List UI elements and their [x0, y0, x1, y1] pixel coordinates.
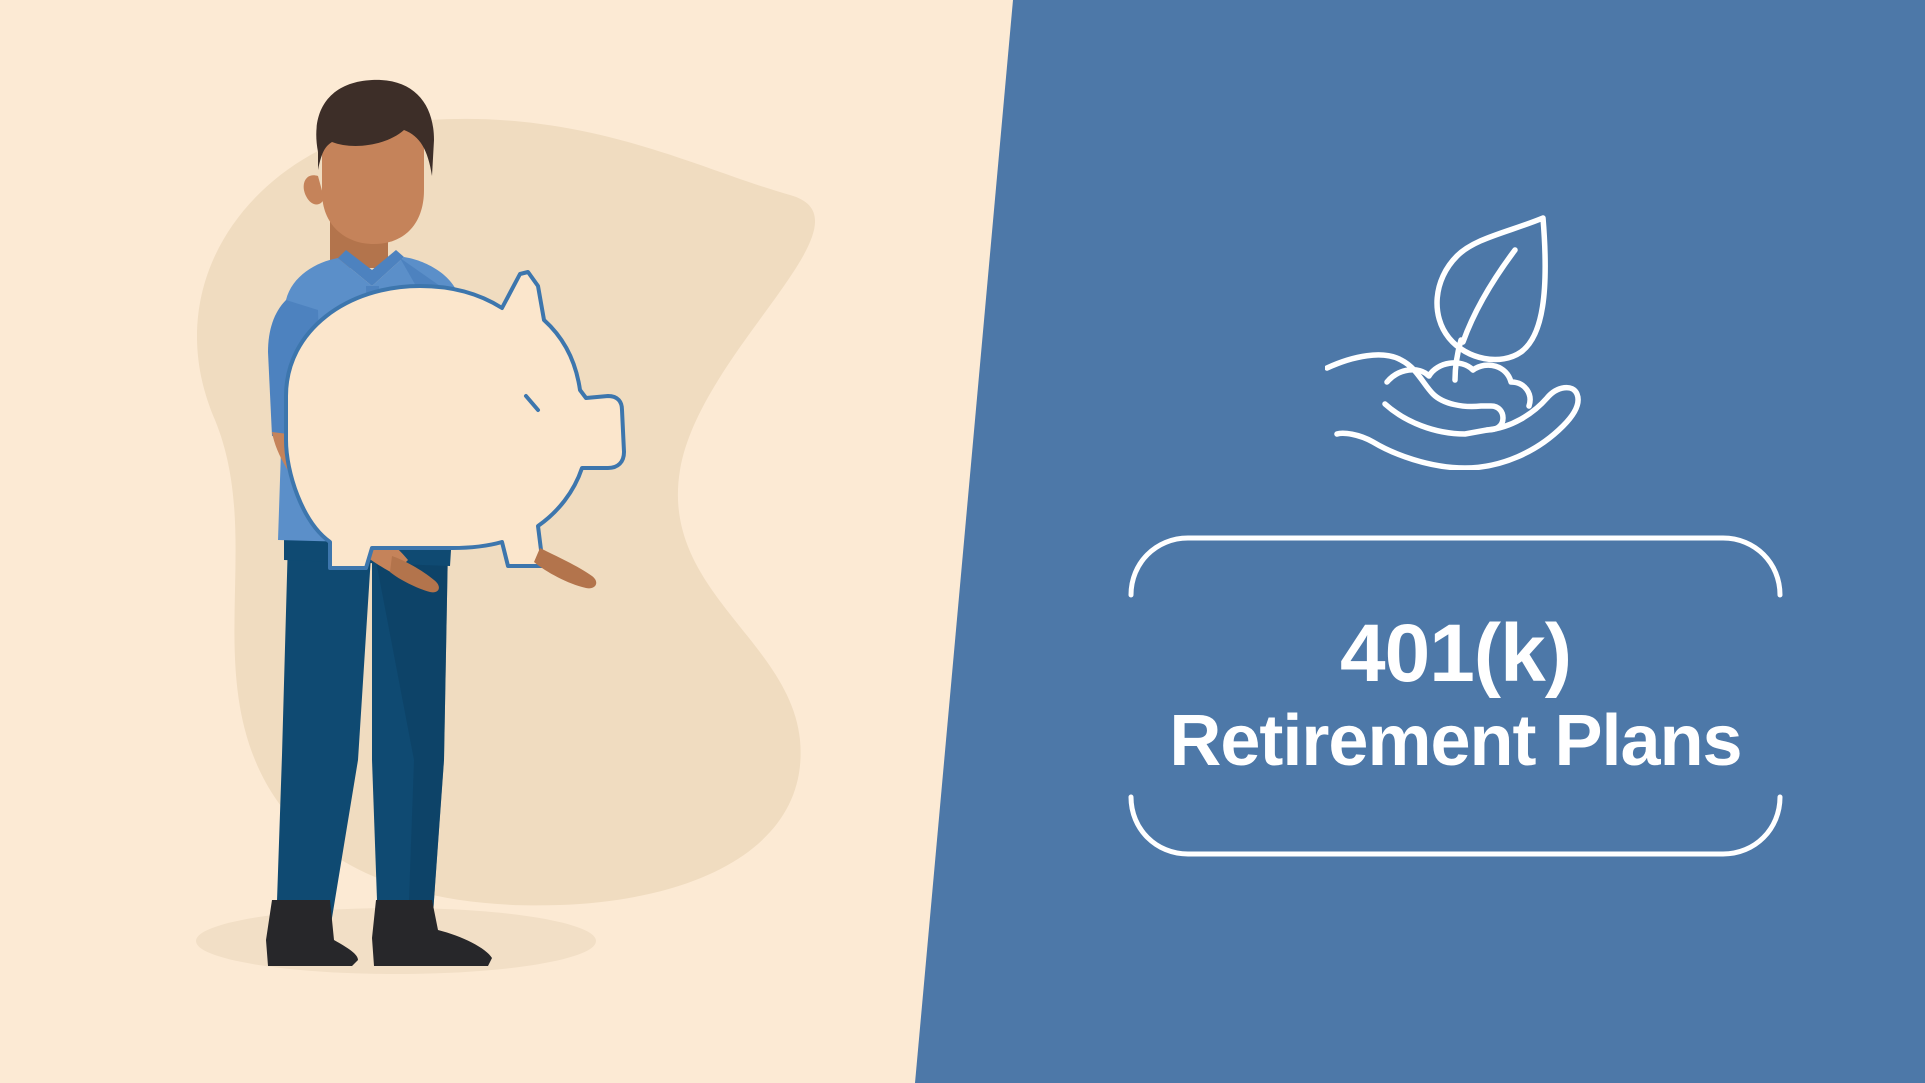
- slide-canvas: 401(k) Retirement Plans: [0, 0, 1925, 1083]
- soil-mound: [1387, 363, 1530, 406]
- leaf-midrib: [1463, 250, 1515, 342]
- hand-holding-sprout-icon: [1325, 190, 1595, 470]
- title-line-1: 401(k): [1340, 611, 1571, 697]
- page-title: 401(k) Retirement Plans: [1128, 535, 1783, 857]
- pants-left-leg: [276, 540, 372, 930]
- hand-fingers: [1337, 388, 1578, 468]
- title-line-2: Retirement Plans: [1169, 701, 1741, 782]
- illustration-group: [0, 0, 1013, 1083]
- title-panel-content: 401(k) Retirement Plans: [1128, 180, 1783, 880]
